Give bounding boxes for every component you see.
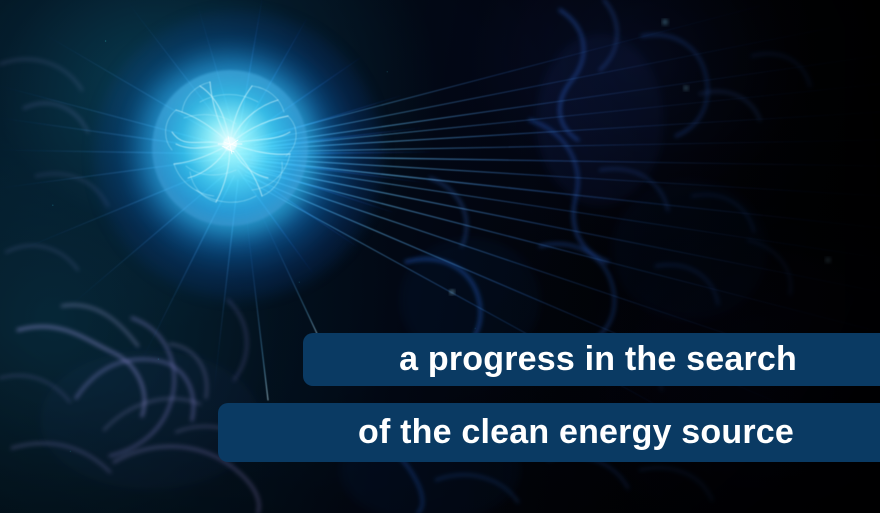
caption-text-line-1: a progress in the search xyxy=(399,340,797,379)
caption-text-line-2: of the clean energy source xyxy=(358,413,794,452)
caption-bar-line-1: a progress in the search xyxy=(303,333,880,386)
plasma-orb-filaments xyxy=(140,58,320,238)
poster-canvas: a progress in the search of the clean en… xyxy=(0,0,880,513)
caption-bar-line-2: of the clean energy source xyxy=(218,403,880,462)
